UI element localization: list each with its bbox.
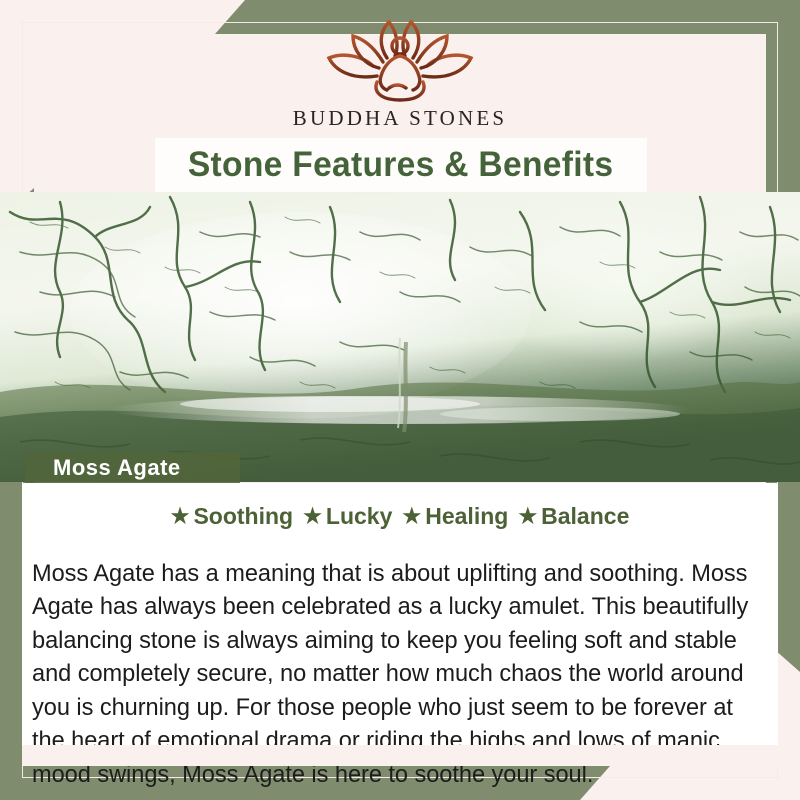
keyword-label: Balance: [541, 503, 629, 530]
moss-agate-stone-photo: [0, 192, 800, 482]
star-icon: ★: [171, 506, 190, 527]
keyword-item: ★ Lucky: [303, 503, 402, 530]
bottom-accent-strip: [22, 745, 778, 766]
star-icon: ★: [402, 506, 421, 527]
keyword-item: ★ Healing: [402, 503, 518, 530]
star-icon: ★: [518, 506, 537, 527]
star-icon: ★: [303, 506, 322, 527]
poster-canvas: BUDDHA STONES Stone Features & Benefits: [0, 0, 800, 800]
keyword-label: Soothing: [193, 503, 293, 530]
brand-logo-area: BUDDHA STONES: [0, 18, 800, 138]
brand-wordmark: BUDDHA STONES: [293, 106, 508, 131]
page-title: Stone Features & Benefits: [188, 145, 613, 185]
stone-name-label: Moss Agate: [53, 455, 181, 481]
title-band: Stone Features & Benefits: [155, 138, 647, 192]
keyword-item: ★ Soothing: [171, 503, 303, 530]
keyword-label: Lucky: [326, 503, 392, 530]
stone-keyword-row: ★ Soothing ★ Lucky ★ Healing ★ Balance: [0, 503, 800, 530]
lotus-meditation-figure-icon: [315, 18, 485, 104]
stone-name-bar: Moss Agate: [25, 452, 240, 483]
keyword-item: ★ Balance: [518, 503, 629, 530]
keyword-label: Healing: [425, 503, 508, 530]
